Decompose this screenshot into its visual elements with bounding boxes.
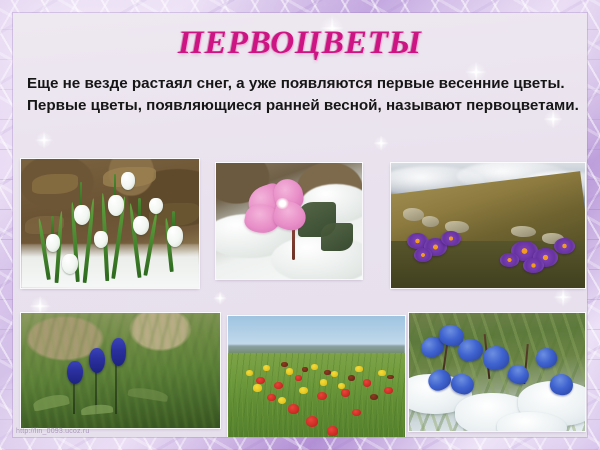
source-watermark: http://lin_0093.ucoz.ru [16,428,89,435]
presentation-slide: ПЕРВОЦВЕТЫ Еще не везде растаял снег, а … [0,0,600,450]
sparkle-icon [373,135,389,151]
photo-pasque-flowers [391,163,585,288]
photo-muscari [21,313,220,428]
photo-snowdrops [21,159,199,288]
photo-steppe-tulips [228,316,405,437]
sparkle-icon [213,291,227,305]
photo-scilla [409,313,585,431]
slide-body-text: Еще не везде растаял снег, а уже появляю… [27,73,579,117]
sparkle-icon [35,131,53,149]
photo-cyclamen [216,163,362,279]
slide-title: ПЕРВОЦВЕТЫ [13,25,587,62]
slide-content-panel: ПЕРВОЦВЕТЫ Еще не везде растаял снег, а … [13,13,587,437]
sparkle-icon [553,287,573,307]
